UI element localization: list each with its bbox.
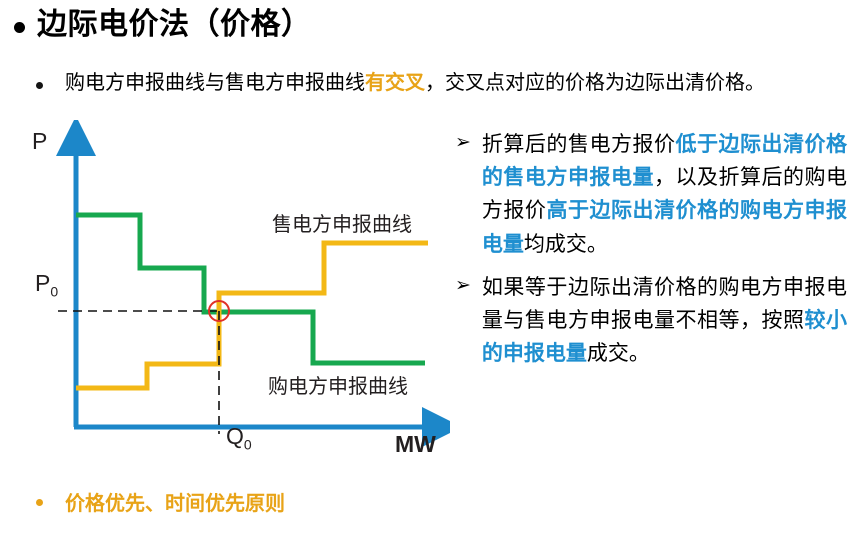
bullet-dot-icon <box>14 22 25 33</box>
principle-note-text: 价格优先、时间优先原则 <box>65 487 285 516</box>
page-title: 边际电价法（价格） <box>14 6 312 44</box>
subtitle-highlight: 有交叉 <box>365 72 425 94</box>
buy-curve-label: 购电方申报曲线 <box>268 370 408 399</box>
subtitle-part1: 购电方申报曲线与售电方申报曲线 <box>65 72 365 94</box>
arrow-bullet-icon: ➢ <box>455 128 471 157</box>
segment-plain: 均成交。 <box>524 233 608 256</box>
principle-note-row: 价格优先、时间优先原则 <box>36 487 285 516</box>
p0-label: P0 <box>35 270 58 300</box>
segment-plain: 成交。 <box>587 342 650 365</box>
p0-label-sub: 0 <box>50 284 58 300</box>
list-item-text: 如果等于边际出清价格的购电方申报电量与售电方申报电量不相等，按照较小的申报电量成… <box>482 271 847 371</box>
p0-label-text: P <box>35 270 50 296</box>
list-item: ➢ 折算后的售电方报价低于边际出清价格的售电方申报电量，以及折算后的购电方报价高… <box>455 128 847 261</box>
q0-label: Q0 <box>226 423 252 453</box>
y-axis-label: P <box>32 128 47 155</box>
subtitle-text: 购电方申报曲线与售电方申报曲线有交叉，交叉点对应的价格为边际出清价格。 <box>65 70 765 97</box>
supply-step-curve <box>76 243 428 388</box>
subtitle-bullet-row: 购电方申报曲线与售电方申报曲线有交叉，交叉点对应的价格为边际出清价格。 <box>36 70 846 97</box>
list-item: ➢ 如果等于边际出清价格的购电方申报电量与售电方申报电量不相等，按照较小的申报电… <box>455 271 847 371</box>
right-panel: ➢ 折算后的售电方报价低于边际出清价格的售电方申报电量，以及折算后的购电方报价高… <box>455 128 847 380</box>
bullet-dot-icon <box>36 499 43 506</box>
subtitle-part2: ，交叉点对应的价格为边际出清价格。 <box>425 72 765 94</box>
segment-plain: 如果等于边际出清价格的购电方申报电量与售电方申报电量不相等，按照 <box>482 276 847 332</box>
x-axis-label: MW <box>395 431 436 458</box>
segment-plain: 折算后的售电方报价 <box>482 133 676 156</box>
list-item-text: 折算后的售电方报价低于边际出清价格的售电方申报电量，以及折算后的购电方报价高于边… <box>482 128 847 261</box>
marginal-price-chart: P P0 Q0 MW 售电方申报曲线 购电方申报曲线 <box>0 120 450 465</box>
sell-curve-label: 售电方申报曲线 <box>272 208 412 237</box>
chart-svg <box>0 120 450 465</box>
q0-label-text: Q <box>226 423 244 449</box>
arrow-bullet-icon: ➢ <box>455 271 471 300</box>
demand-step-curve <box>76 215 425 363</box>
q0-label-sub: 0 <box>244 437 252 453</box>
bullet-dot-icon <box>36 82 43 89</box>
title-text: 边际电价法（价格） <box>37 6 312 44</box>
